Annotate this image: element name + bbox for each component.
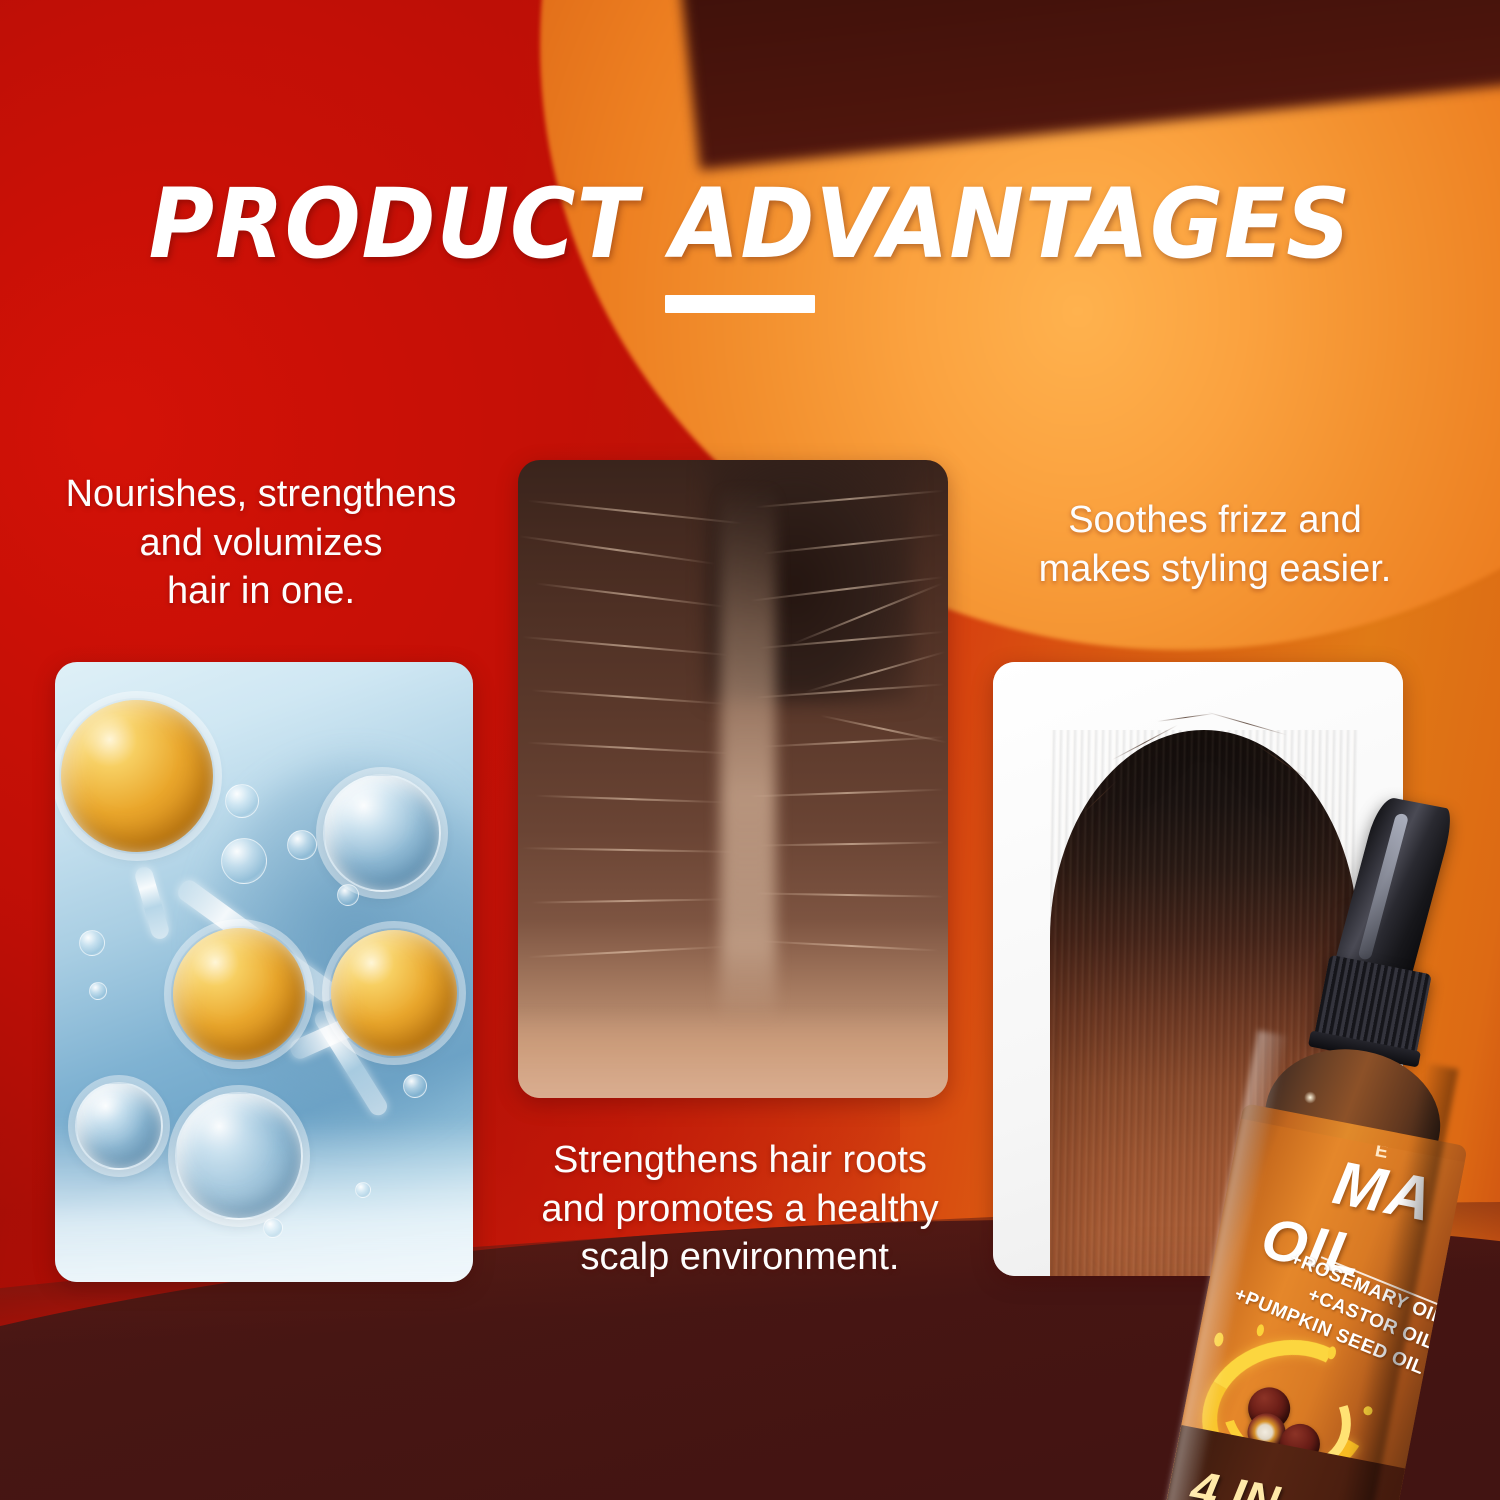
caption-nourishes: Nourishes, strengthens and volumizes hai… — [26, 470, 496, 616]
sphere-glass-ring — [168, 1085, 310, 1227]
water-bubble — [403, 1074, 427, 1098]
water-bubble — [79, 930, 105, 956]
molecule-sphere-gold — [173, 928, 305, 1060]
sphere-glass-ring — [316, 767, 448, 899]
molecule-card — [55, 662, 473, 1282]
water-bubble — [287, 830, 317, 860]
sphere-glass-ring — [322, 921, 466, 1065]
forehead-skin — [518, 1009, 948, 1098]
title-underline-bar — [665, 295, 815, 313]
page-title: PRODUCT ADVANTAGES — [53, 176, 1448, 272]
sphere-glass-ring — [55, 691, 222, 861]
oil-droplet — [1256, 1324, 1265, 1337]
sphere-glass-ring — [164, 919, 314, 1069]
sphere-glass-ring — [68, 1075, 170, 1177]
water-bubble — [89, 982, 107, 1000]
water-bubble — [225, 784, 259, 818]
scalp-card — [518, 460, 948, 1098]
water-bubble — [263, 1218, 283, 1238]
caption-soothes-frizz: Soothes frizz and makes styling easier. — [985, 496, 1445, 593]
molecule-sphere-gold — [331, 930, 457, 1056]
water-bubble — [221, 838, 267, 884]
molecule-sphere-gold — [61, 700, 213, 852]
water-bubble — [337, 884, 359, 906]
advertisement-banner: PRODUCT ADVANTAGES Nourishes, strengthen… — [0, 0, 1500, 1500]
molecule-sphere-clear — [75, 1082, 163, 1170]
caption-strengthens-roots: Strengthens hair roots and promotes a he… — [490, 1136, 990, 1282]
hair-strands-overlay — [518, 460, 948, 1098]
molecule-sphere-clear — [323, 774, 441, 892]
molecule-sphere-clear — [175, 1092, 303, 1220]
water-bubble — [355, 1182, 371, 1198]
